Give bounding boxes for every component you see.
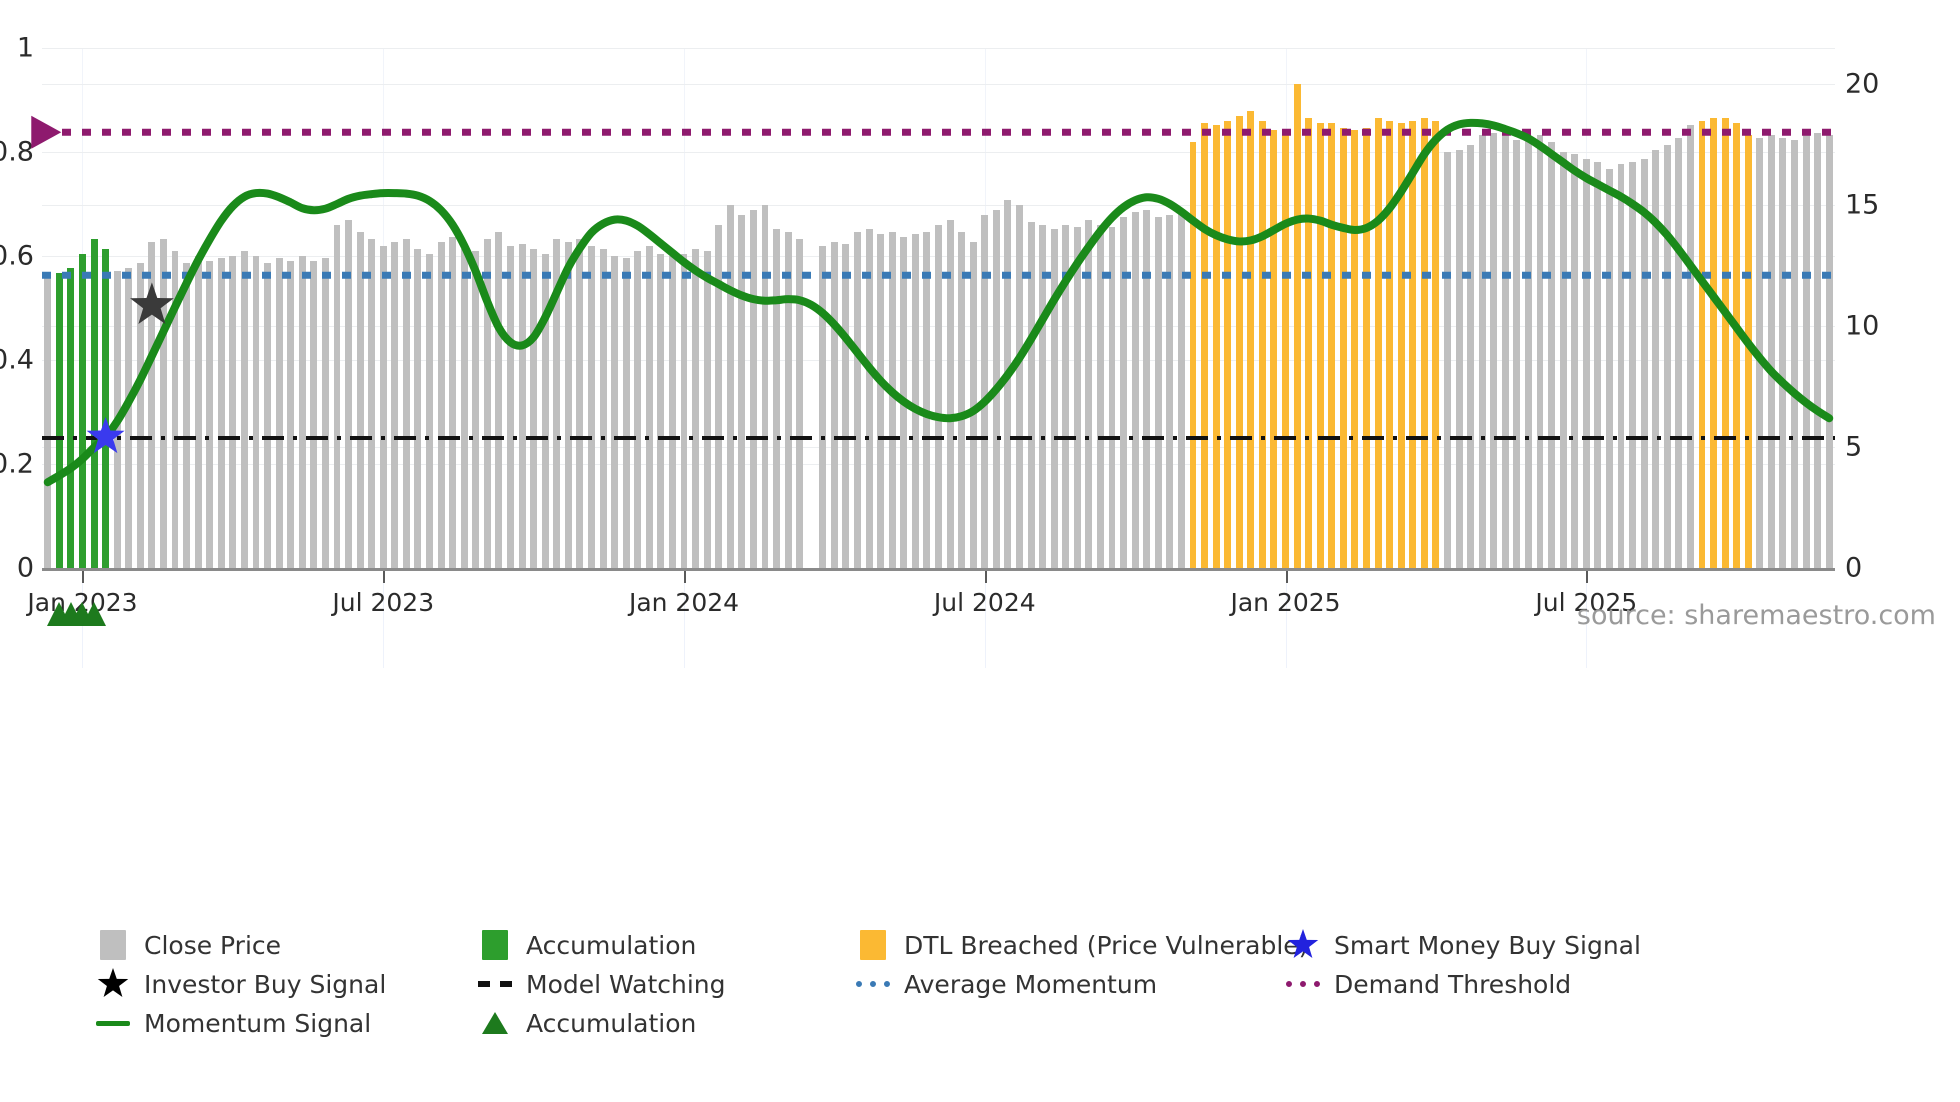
- legend-label-accumulation-bar: Accumulation: [526, 933, 696, 958]
- y-tick-label-right: 10: [1845, 313, 1879, 340]
- legend-item-dtl-breached[interactable]: DTL Breached (Price Vulnerable): [856, 928, 1308, 962]
- vertical-gridline: [684, 568, 685, 668]
- legend-label-investor-buy-signal: Investor Buy Signal: [144, 972, 386, 997]
- legend-label-model-watching: Model Watching: [526, 972, 726, 997]
- momentum-signal-line: [48, 123, 1829, 482]
- legend-item-model-watching[interactable]: Model Watching: [478, 967, 726, 1001]
- demand-threshold-dot-icon: [1286, 967, 1320, 1001]
- model-watching-dash-icon: [478, 967, 512, 1001]
- dtl-breached-swatch-icon: [856, 928, 890, 962]
- legend-label-dtl-breached: DTL Breached (Price Vulnerable): [904, 933, 1308, 958]
- x-tick-mark: [1286, 571, 1288, 583]
- x-axis-line: [42, 568, 1835, 571]
- legend-label-average-momentum: Average Momentum: [904, 972, 1157, 997]
- vertical-gridline: [985, 568, 986, 668]
- plot-area: [42, 48, 1835, 568]
- y-axis-right: 05101520: [1845, 48, 1955, 568]
- x-tick-mark: [82, 571, 84, 583]
- legend-label-accumulation-triangle: Accumulation: [526, 1011, 696, 1036]
- chart-legend: Close PriceAccumulationDTL Breached (Pri…: [96, 928, 1896, 1045]
- legend-row-2: Investor Buy SignalModel WatchingAverage…: [96, 967, 1896, 1006]
- accumulation-triangle-icon: [82, 602, 106, 626]
- y-tick-label-left: 0.6: [0, 243, 34, 270]
- y-tick-label-left: 0.2: [0, 451, 34, 478]
- legend-label-demand-threshold: Demand Threshold: [1334, 972, 1571, 997]
- legend-row-1: Close PriceAccumulationDTL Breached (Pri…: [96, 928, 1896, 967]
- y-tick-label-left: 0: [17, 555, 34, 582]
- legend-item-accumulation-triangle[interactable]: Accumulation: [478, 1006, 696, 1040]
- close-price-swatch-icon: [96, 928, 130, 962]
- chart-overlay: [42, 48, 1835, 568]
- legend-item-accumulation-bar[interactable]: Accumulation: [478, 928, 696, 962]
- x-tick-label: Jul 2023: [332, 588, 434, 617]
- chart-root: 00.20.40.60.81 05101520 Jan 2023Jul 2023…: [0, 0, 1960, 1102]
- vertical-gridline: [383, 568, 384, 668]
- legend-row-3: Momentum SignalAccumulation: [96, 1006, 1896, 1045]
- demand-threshold-marker-marker: [31, 116, 61, 149]
- y-tick-label-right: 20: [1845, 71, 1879, 98]
- y-tick-label-right: 15: [1845, 192, 1879, 219]
- y-tick-label-right: 0: [1845, 555, 1862, 582]
- investor-buy-signal-star-icon: [96, 967, 130, 1001]
- x-tick-mark: [985, 571, 987, 583]
- x-tick-mark: [684, 571, 686, 583]
- smart-money-buy-signal-star-icon: [1286, 928, 1320, 962]
- y-tick-label-left: 0.8: [0, 139, 34, 166]
- momentum-signal-line-icon: [96, 1006, 130, 1040]
- y-axis-left: 00.20.40.60.81: [0, 48, 34, 568]
- legend-item-average-momentum[interactable]: Average Momentum: [856, 967, 1157, 1001]
- legend-item-investor-buy-signal[interactable]: Investor Buy Signal: [96, 967, 386, 1001]
- accumulation-bar-swatch-icon: [478, 928, 512, 962]
- x-tick-label: Jul 2024: [934, 588, 1036, 617]
- y-tick-label-right: 5: [1845, 434, 1862, 461]
- average-momentum-dot-icon: [856, 967, 890, 1001]
- legend-label-momentum-signal: Momentum Signal: [144, 1011, 371, 1036]
- y-tick-label-left: 0.4: [0, 347, 34, 374]
- x-tick-label: Jan 2025: [1230, 588, 1340, 617]
- y-tick-label-left: 1: [17, 35, 34, 62]
- legend-item-demand-threshold[interactable]: Demand Threshold: [1286, 967, 1571, 1001]
- legend-label-close-price: Close Price: [144, 933, 281, 958]
- legend-item-momentum-signal[interactable]: Momentum Signal: [96, 1006, 371, 1040]
- vertical-gridline: [1286, 568, 1287, 668]
- x-tick-mark: [1586, 571, 1588, 583]
- x-tick-mark: [383, 571, 385, 583]
- accumulation-triangle-triangle-icon: [478, 1006, 512, 1040]
- legend-label-smart-money-buy-signal: Smart Money Buy Signal: [1334, 933, 1641, 958]
- source-note: source: sharemaestro.com: [1577, 600, 1936, 631]
- legend-item-close-price[interactable]: Close Price: [96, 928, 281, 962]
- x-tick-label: Jan 2024: [629, 588, 739, 617]
- legend-item-smart-money-buy-signal[interactable]: Smart Money Buy Signal: [1286, 928, 1641, 962]
